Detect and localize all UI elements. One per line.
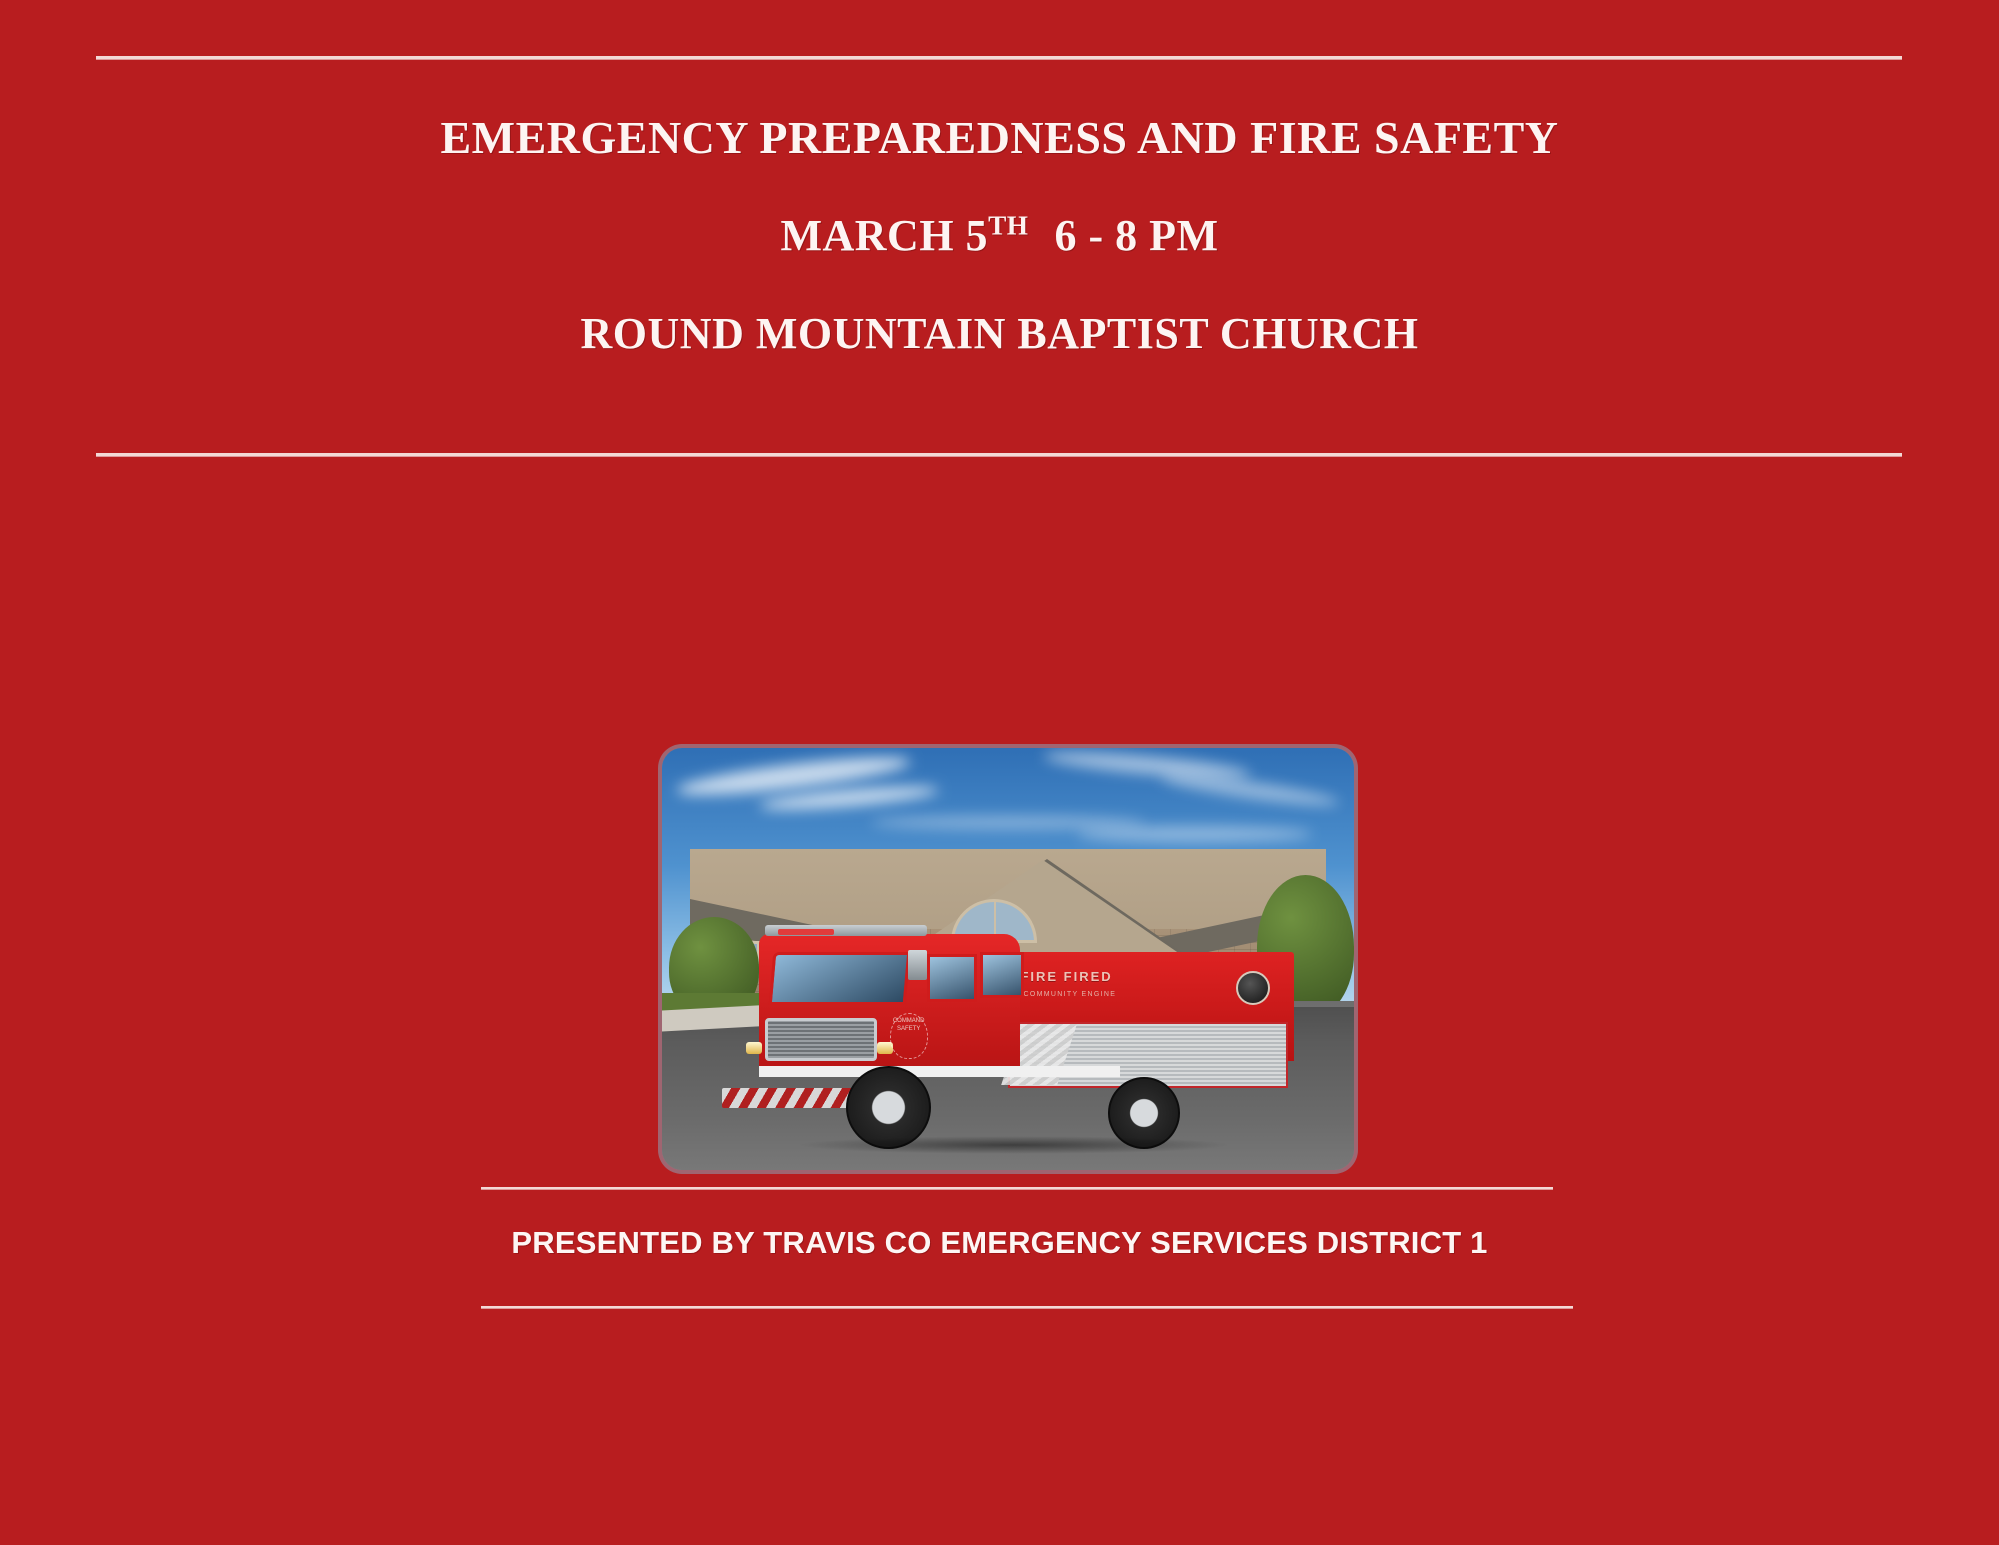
event-flyer: EMERGENCY PREPAREDNESS AND FIRE SAFETY M… <box>0 0 1999 1545</box>
body-stripe <box>759 1066 1120 1077</box>
presented-by-text: PRESENTED BY TRAVIS CO EMERGENCY SERVICE… <box>0 1225 1999 1261</box>
department-emblem: COMMAND SAFETY <box>890 1013 928 1059</box>
page-title: EMERGENCY PREPAREDNESS AND FIRE SAFETY <box>0 110 1999 166</box>
fire-truck: FIRE FIRED COMMUNITY ENGINE COMMAND SAFE… <box>697 921 1320 1140</box>
side-mirror <box>908 950 927 981</box>
truck-body-sublettering: COMMUNITY ENGINE <box>1024 991 1117 998</box>
front-grille <box>765 1018 877 1062</box>
emergency-light <box>778 929 834 936</box>
photo-canvas: FIRE FIRED COMMUNITY ENGINE COMMAND SAFE… <box>662 748 1354 1170</box>
fire-truck-photo: FIRE FIRED COMMUNITY ENGINE COMMAND SAFE… <box>662 748 1354 1170</box>
divider-below-footer <box>481 1306 1573 1308</box>
cab-window <box>927 954 977 1002</box>
event-date: MARCH 5 <box>780 211 988 260</box>
truck-roundel-icon <box>1236 971 1270 1005</box>
cloud <box>1160 770 1340 811</box>
truck-body-lettering: FIRE FIRED <box>1020 969 1112 984</box>
divider-above-footer <box>481 1187 1553 1189</box>
date-ordinal-suffix: TH <box>988 210 1028 240</box>
headlight <box>746 1042 762 1054</box>
cloud <box>870 816 1147 829</box>
windshield <box>769 952 911 1005</box>
ground-shadow <box>796 1136 1232 1154</box>
event-datetime: MARCH 5TH6 - 8 PM <box>0 208 1999 264</box>
event-time: 6 - 8 PM <box>1054 211 1218 260</box>
divider-below-heading <box>96 453 1902 456</box>
divider-top <box>96 56 1902 59</box>
event-venue: ROUND MOUNTAIN BAPTIST CHURCH <box>0 306 1999 362</box>
heading-block: EMERGENCY PREPAREDNESS AND FIRE SAFETY M… <box>0 110 1999 362</box>
cloud <box>1077 826 1312 842</box>
cab-window <box>980 952 1024 998</box>
